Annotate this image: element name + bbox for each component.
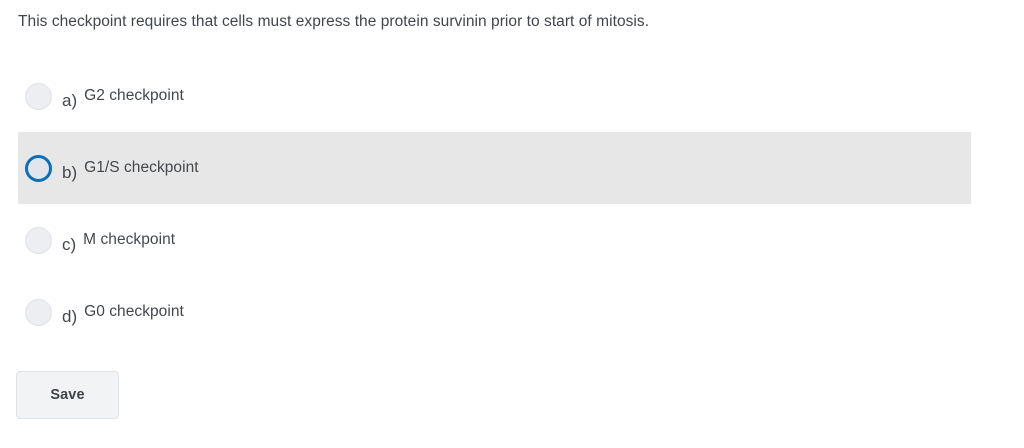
option-letter-a: a) xyxy=(62,91,77,111)
answer-options-list: a) G2 checkpoint b) G1/S checkpoint c) M… xyxy=(0,60,1024,348)
option-label-d: G0 checkpoint xyxy=(84,303,184,321)
radio-button-d[interactable] xyxy=(25,299,52,326)
option-row-d[interactable]: d) G0 checkpoint xyxy=(18,276,971,348)
option-label-a: G2 checkpoint xyxy=(84,87,184,105)
option-row-b[interactable]: b) G1/S checkpoint xyxy=(18,132,971,204)
option-letter-b: b) xyxy=(62,163,77,183)
radio-button-b[interactable] xyxy=(25,155,52,182)
save-button[interactable]: Save xyxy=(16,371,119,419)
option-row-a[interactable]: a) G2 checkpoint xyxy=(18,60,971,132)
question-prompt: This checkpoint requires that cells must… xyxy=(18,12,649,32)
radio-button-a[interactable] xyxy=(25,83,52,110)
option-letter-c: c) xyxy=(62,235,76,255)
option-label-b: G1/S checkpoint xyxy=(84,159,198,177)
radio-button-c[interactable] xyxy=(25,227,52,254)
option-letter-d: d) xyxy=(62,307,77,327)
option-label-c: M checkpoint xyxy=(83,231,175,249)
option-row-c[interactable]: c) M checkpoint xyxy=(18,204,971,276)
question-page: This checkpoint requires that cells must… xyxy=(0,0,1024,448)
